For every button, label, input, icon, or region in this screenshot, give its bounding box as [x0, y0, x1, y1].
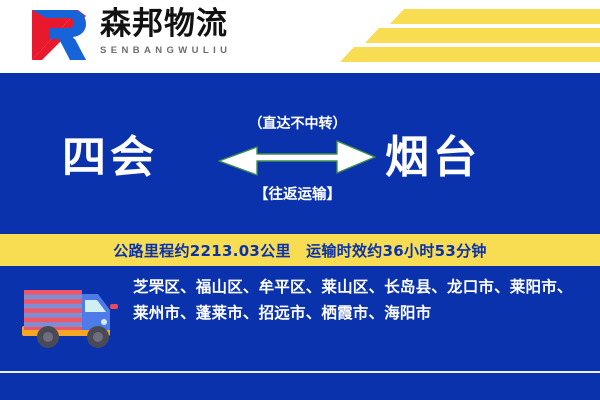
stripe-2 [365, 28, 600, 43]
main-panel: 四会 （直达不中转） 【往返运输】 烟台 公路里程约2213.03公里 运输时效… [0, 73, 600, 400]
brand-name-cn: 森邦物流 [100, 6, 231, 42]
brand-name-en: SENBANGWULIU [100, 44, 231, 57]
header-bar: 森邦物流 SENBANGWULIU [0, 0, 600, 73]
brand-logo: 森邦物流 SENBANGWULIU [28, 6, 231, 64]
logistics-route-poster: 森邦物流 SENBANGWULIU 四会 （直达不中转） 【往返运输】 [0, 0, 600, 400]
coverage-section: 芝罘区、福山区、牟平区、莱山区、长岛县、龙口市、莱阳市、莱州市、蓬莱市、招远市、… [0, 266, 600, 366]
distance-duration-text: 公路里程约2213.03公里 运输时效约36小时53分钟 [113, 240, 486, 261]
decorative-stripes [330, 0, 600, 73]
round-trip-label: 【往返运输】 [215, 183, 380, 204]
brand-text: 森邦物流 SENBANGWULIU [100, 6, 231, 57]
info-bar: 公路里程约2213.03公里 运输时效约36小时53分钟 [0, 234, 600, 266]
coverage-areas-text: 芝罘区、福山区、牟平区、莱山区、长岛县、龙口市、莱阳市、莱州市、蓬莱市、招远市、… [133, 274, 581, 326]
bidirectional-arrow-icon [217, 139, 377, 186]
route-arrow-block: （直达不中转） 【往返运输】 [215, 113, 380, 225]
direct-service-label: （直达不中转） [215, 113, 380, 133]
destination-city: 烟台 [385, 129, 481, 187]
bottom-divider [0, 371, 600, 373]
senbang-r-logo-icon [28, 6, 90, 64]
stripe-3 [340, 47, 600, 62]
origin-city: 四会 [62, 129, 158, 187]
stripe-1 [390, 9, 600, 24]
route-row: 四会 （直达不中转） 【往返运输】 烟台 [0, 113, 600, 233]
delivery-truck-icon [18, 276, 122, 357]
